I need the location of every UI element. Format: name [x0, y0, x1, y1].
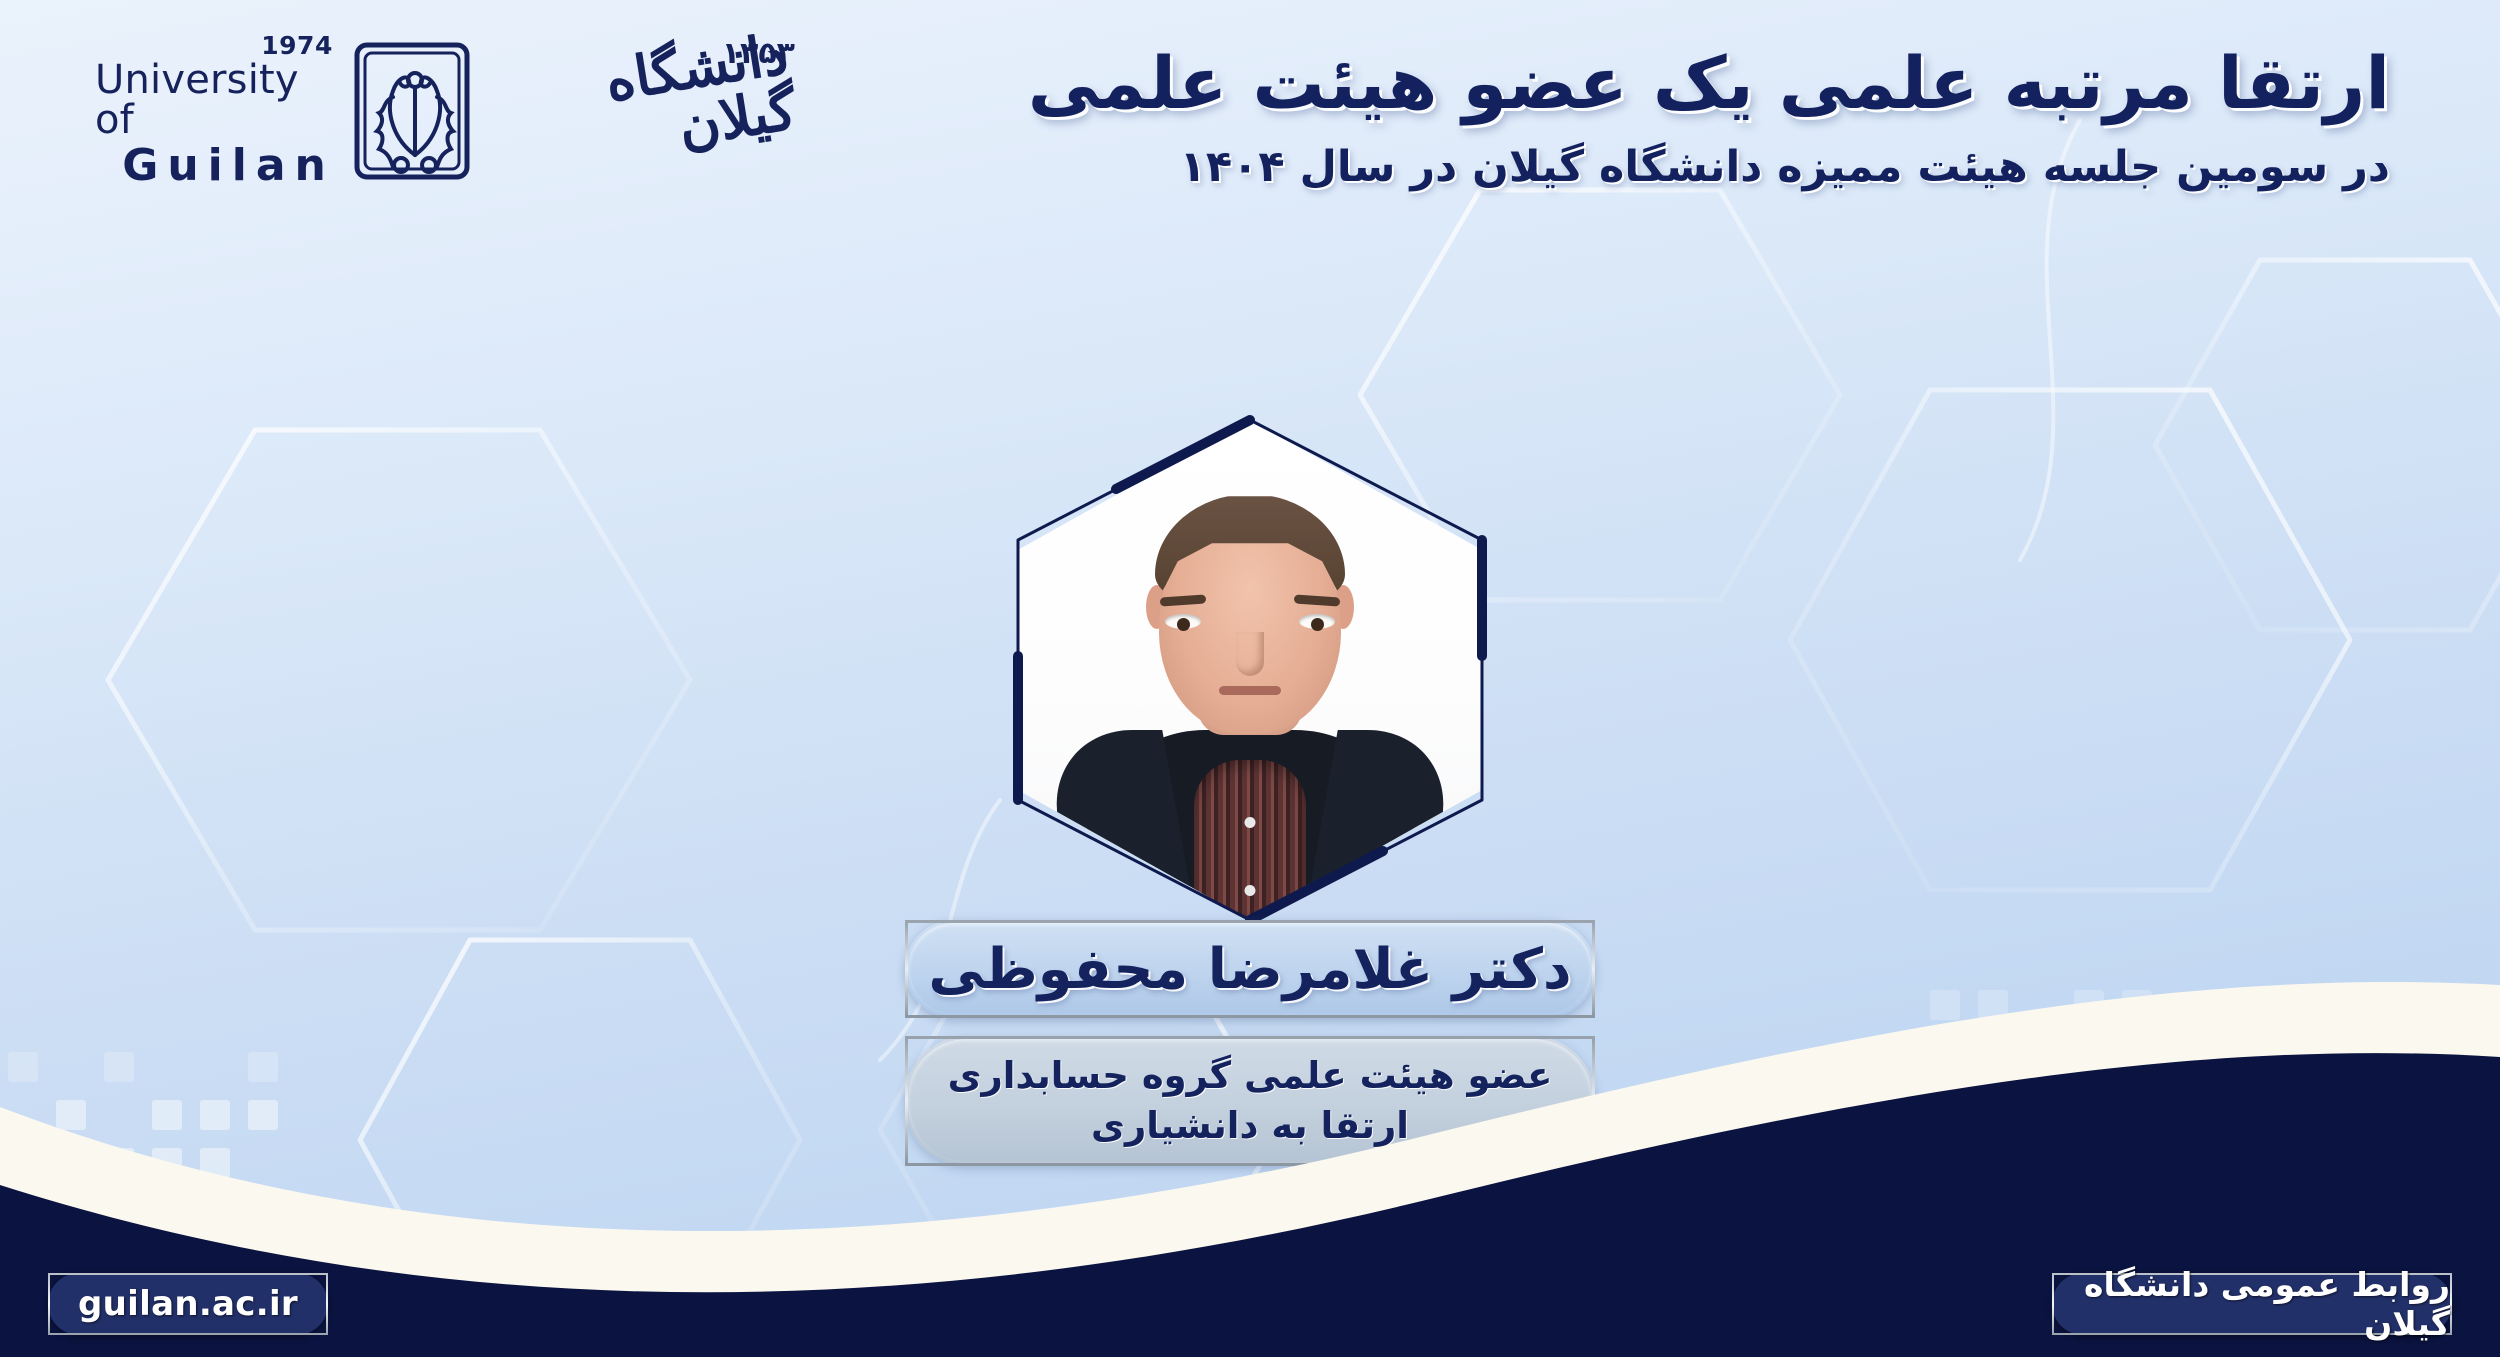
guilan-university-emblem-icon — [345, 35, 485, 185]
logo-english-text: 1974 University of Guilan — [95, 33, 339, 188]
page-title: ارتقا مرتبه علمی یک عضو هیئت علمی — [890, 38, 2390, 128]
public-relations-label: روابط عمومی دانشگاه گیلان — [2054, 1265, 2450, 1343]
portrait-frame — [1018, 420, 1482, 920]
logo-university-word: University of — [95, 60, 339, 140]
logo-established-year-en: 1974 — [261, 33, 333, 58]
public-relations-pill[interactable]: روابط عمومی دانشگاه گیلان — [2052, 1273, 2452, 1335]
hexagon-border-icon — [1008, 410, 1492, 930]
website-url: guilan.ac.ir — [78, 1284, 298, 1324]
website-pill[interactable]: guilan.ac.ir — [48, 1273, 328, 1335]
logo-university-name-fa: دانشگاه گیلان — [480, 25, 800, 184]
logo-persian-text: ۱۳۵۳ دانشگاه گیلان — [489, 36, 795, 185]
headline-block: ارتقا مرتبه علمی یک عضو هیئت علمی در سوم… — [890, 38, 2390, 196]
page-subtitle: در سومین جلسه هیئت ممیزه دانشگاه گیلان د… — [890, 140, 2390, 196]
university-logo[interactable]: 1974 University of Guilan ۱۳۵۳ دانشگاه گ… — [95, 30, 795, 190]
announcement-poster: 1974 University of Guilan ۱۳۵۳ دانشگاه گ… — [0, 0, 2500, 1357]
logo-university-name-en: Guilan — [122, 144, 335, 188]
